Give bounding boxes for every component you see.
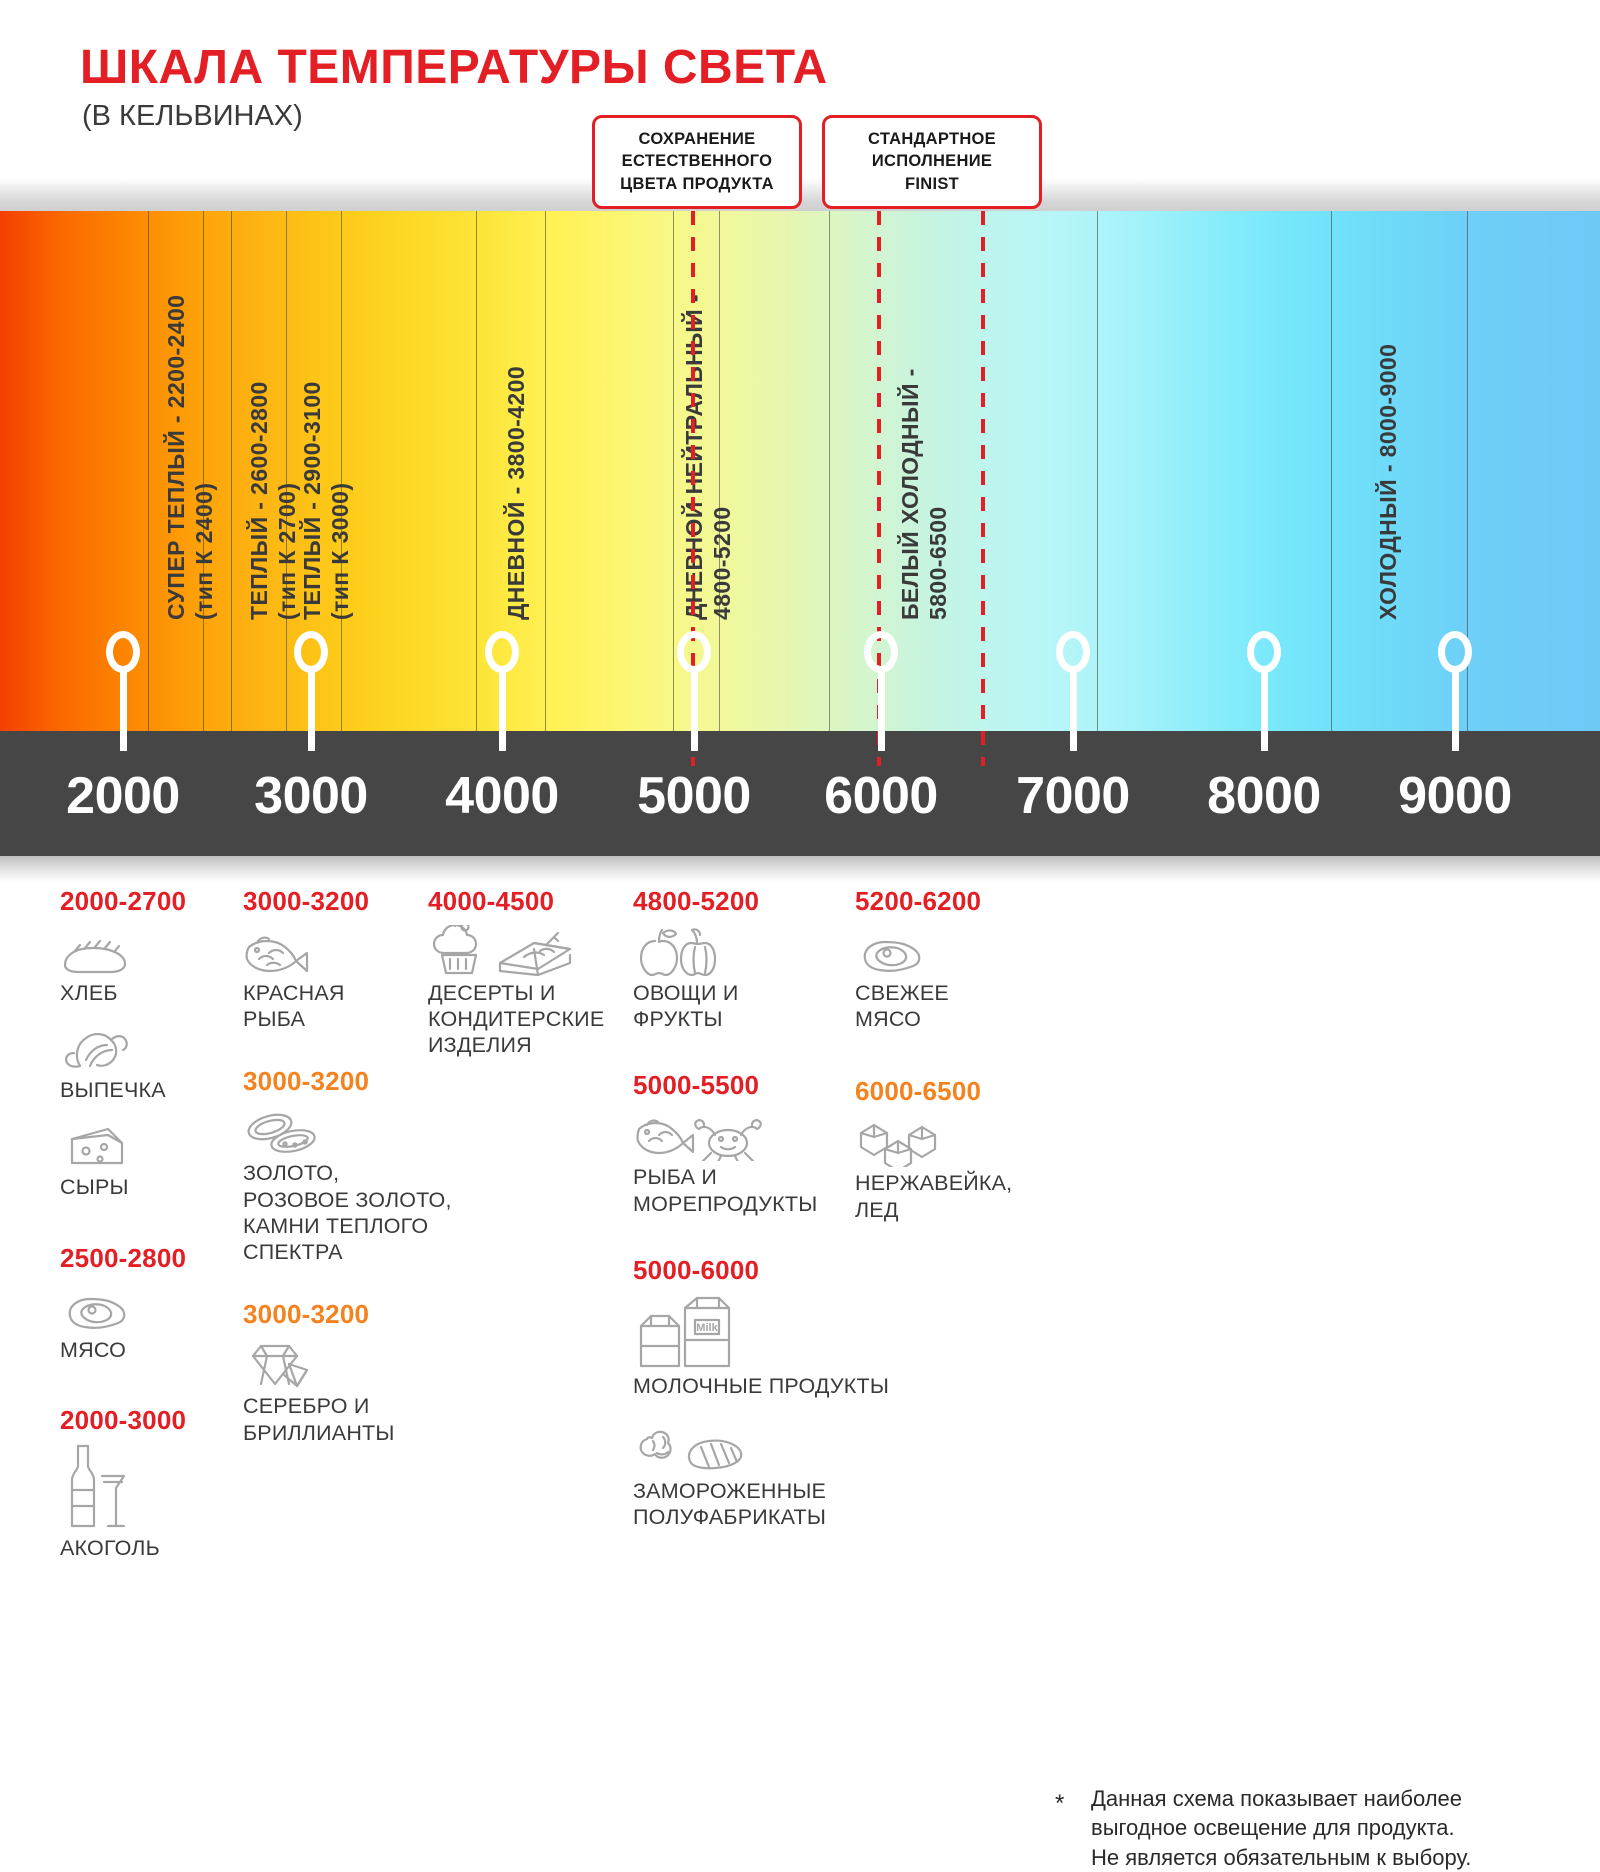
legend-item-frozen: ЗАМОРОЖЕННЫЕПОЛУФАБРИКАТЫ — [633, 1421, 848, 1530]
croissant-icon — [60, 1020, 240, 1074]
footnote-line-2: выгодное освещение для продукта. — [1091, 1813, 1550, 1842]
band-divider — [1097, 211, 1098, 731]
band-divider — [719, 211, 720, 731]
legend-item-desserts: ДЕСЕРТЫ И КОНДИТЕРСКИЕ ИЗДЕЛИЯ — [428, 923, 628, 1059]
tick-label-2000: 2000 — [28, 766, 218, 826]
legend-item-label: ХЛЕБ — [60, 980, 240, 1006]
legend-range: 5000-5500 — [633, 1070, 848, 1101]
legend-item-label: СЕРЕБРО ИБРИЛЛИАНТЫ — [243, 1393, 433, 1445]
callout-line-2: ИСПОЛНЕНИЕ — [837, 150, 1027, 172]
legend-range: 2500-2800 — [60, 1243, 240, 1274]
rings-icon — [243, 1103, 433, 1157]
footnote-line-1: Данная схема показывает наиболее — [1091, 1784, 1550, 1813]
band-label-warm-3000: ТЕПЛЫЙ - 2900-3100 — [299, 381, 326, 620]
band-divider — [545, 211, 546, 731]
tick-label-8000: 8000 — [1169, 766, 1359, 826]
legend-range: 3000-3200 — [243, 1299, 433, 1330]
band-label-super-warm: СУПЕР ТЕПЛЫЙ - 2200-2400 — [163, 295, 190, 620]
steak-icon — [60, 1280, 240, 1334]
legend-group-2500-2800: 2500-2800 МЯСО — [60, 1243, 240, 1363]
legend-item-label: НЕРЖАВЕЙКА,ЛЕД — [855, 1170, 1050, 1222]
legend-item-label: ЗАМОРОЖЕННЫЕПОЛУФАБРИКАТЫ — [633, 1478, 883, 1530]
legend-group-fresh-meat: 5200-6200 СВЕЖЕЕМЯСО — [855, 886, 1050, 1032]
band-label-warm-2700: ТЕПЛЫЙ - 2600-2800 — [246, 381, 273, 620]
band-divider — [148, 211, 149, 731]
footnote-line-3: Не является обязательным к выбору. — [1091, 1843, 1550, 1872]
page-title: ШКАЛА ТЕМПЕРАТУРЫ СВЕТА — [80, 40, 828, 95]
legend-item-red-fish: КРАСНАЯРЫБА — [243, 923, 433, 1032]
legend-item-label: ОВОЩИ ИФРУКТЫ — [633, 980, 848, 1032]
legend-item-label: ВЫПЕЧКА — [60, 1077, 240, 1103]
legend-range: 4000-4500 — [428, 886, 628, 917]
legend-item-label: МОЛОЧНЫЕ ПРОДУКТЫ — [633, 1373, 953, 1399]
diamond-icon — [243, 1336, 433, 1390]
bread-icon — [60, 923, 240, 977]
tick-label-7000: 7000 — [978, 766, 1168, 826]
page-subtitle: (В КЕЛЬВИНАХ) — [82, 100, 303, 133]
band-sublabel-white-cold: 5800-6500 — [925, 506, 952, 620]
footnote: * Данная схема показывает наиболее выгод… — [1055, 1784, 1550, 1872]
fish-icon — [243, 923, 433, 977]
legend-column-4: 4800-5200 ОВОЩИ ИФРУКТЫ 5000-5500 — [633, 886, 848, 1545]
band-label-daylight: ДНЕВНОЙ - 3800-4200 — [503, 366, 530, 620]
legend-item-steel-ice: НЕРЖАВЕЙКА,ЛЕД — [855, 1113, 1050, 1222]
svg-text:Milk: Milk — [696, 1322, 718, 1334]
legend-range: 2000-2700 — [60, 886, 240, 917]
fish-crab-icon — [633, 1107, 848, 1161]
band-divider — [673, 211, 674, 731]
color-temperature-gradient — [0, 211, 1600, 731]
callout-line-2: ЕСТЕСТВЕННОГО — [607, 150, 787, 172]
legend-range: 5000-6000 — [633, 1255, 848, 1286]
cupcake-cake-icon — [428, 923, 628, 977]
legend-item-label: РЫБА ИМОРЕПРОДУКТЫ — [633, 1164, 848, 1216]
legend-item-label: КРАСНАЯРЫБА — [243, 980, 433, 1032]
legend-item-label: СЫРЫ — [60, 1174, 240, 1200]
legend-column-3: 4000-4500 ДЕСЕРТЫ И КОНДИТЕРСКИЕ ИЗДЕ — [428, 886, 628, 1073]
footnote-text: Данная схема показывает наиболее выгодно… — [1091, 1784, 1550, 1872]
band-divider — [476, 211, 477, 731]
band-divider — [286, 211, 287, 731]
band-divider — [1331, 211, 1332, 731]
tick-label-9000: 9000 — [1360, 766, 1550, 826]
tick-label-4000: 4000 — [407, 766, 597, 826]
legend-range: 3000-3200 — [243, 1066, 433, 1097]
legend-item-gold: ЗОЛОТО, РОЗОВОЕ ЗОЛОТО, КАМНИ ТЕПЛОГО СП… — [243, 1103, 433, 1265]
frozen-food-icon — [633, 1421, 848, 1475]
guide-line-6500k — [981, 211, 985, 766]
apple-pepper-icon — [633, 923, 848, 977]
legend-item-bread: ХЛЕБ — [60, 923, 240, 1006]
legend-range: 5200-6200 — [855, 886, 1050, 917]
legend-item-cheese: СЫРЫ — [60, 1117, 240, 1200]
legend-item-alcohol: АКОГОЛЬ — [60, 1442, 240, 1561]
legend-range: 3000-3200 — [243, 886, 433, 917]
callout-line-3: ЦВЕТА ПРОДУКТА — [607, 173, 787, 195]
legend-item-seafood: РЫБА ИМОРЕПРОДУКТЫ — [633, 1107, 848, 1216]
legend-column-5: 5200-6200 СВЕЖЕЕМЯСО 6000-6500 — [855, 886, 1050, 1237]
legend-group-silver: 3000-3200 СЕРЕБРО ИБРИЛЛИАНТЫ — [243, 1299, 433, 1445]
axis-bottom-shadow — [0, 856, 1600, 882]
legend-item-label: СВЕЖЕЕМЯСО — [855, 980, 1050, 1032]
band-label-white-cold: БЕЛЫЙ ХОЛОДНЫЙ - — [897, 368, 924, 620]
callout-line-1: СОХРАНЕНИЕ — [607, 128, 787, 150]
cheese-icon — [60, 1117, 240, 1171]
legend-item-meat: МЯСО — [60, 1280, 240, 1363]
milk-carton-icon: Milk — [633, 1292, 848, 1370]
tick-label-3000: 3000 — [216, 766, 406, 826]
band-sublabel-super-warm: (тип К 2400) — [191, 483, 218, 620]
legend-column-1: 2000-2700 ХЛЕБ ВЫПЕЧКА — [60, 886, 240, 1575]
legend-group-steel-ice: 6000-6500 НЕРЖАВЕЙКА,ЛЕД — [855, 1076, 1050, 1222]
legend-item-vegetables: ОВОЩИ ИФРУКТЫ — [633, 923, 848, 1032]
legend-item-label: ЗОЛОТО, РОЗОВОЕ ЗОЛОТО, КАМНИ ТЕПЛОГО СП… — [243, 1160, 493, 1265]
callout-line-3: FINIST — [837, 173, 1027, 195]
tick-label-6000: 6000 — [786, 766, 976, 826]
legend-group-vegetables: 4800-5200 ОВОЩИ ИФРУКТЫ — [633, 886, 848, 1032]
callout-finist-standard: СТАНДАРТНОЕ ИСПОЛНЕНИЕ FINIST — [822, 115, 1042, 209]
band-sublabel-warm-3000: (тип К 3000) — [327, 483, 354, 620]
legend-item-label: АКОГОЛЬ — [60, 1535, 240, 1561]
band-divider — [341, 211, 342, 731]
legend-item-dairy: Milk МОЛОЧНЫЕ ПРОДУКТЫ — [633, 1292, 848, 1399]
legend-column-2: 3000-3200 КРАСНАЯРЫБА 3000-3200 — [243, 886, 433, 1460]
callout-line-1: СТАНДАРТНОЕ — [837, 128, 1027, 150]
legend-group-2000-3000: 2000-3000 АКОГОЛЬ — [60, 1405, 240, 1561]
band-divider — [829, 211, 830, 731]
band-divider — [231, 211, 232, 731]
band-divider — [203, 211, 204, 731]
callout-natural-color: СОХРАНЕНИЕ ЕСТЕСТВЕННОГО ЦВЕТА ПРОДУКТА — [592, 115, 802, 209]
legend-item-silver: СЕРЕБРО ИБРИЛЛИАНТЫ — [243, 1336, 433, 1445]
legend-group-seafood: 5000-5500 РЫБА ИМОРЕПРОДУКТЫ — [633, 1070, 848, 1216]
legend-item-label: МЯСО — [60, 1337, 240, 1363]
legend-item-pastry: ВЫПЕЧКА — [60, 1020, 240, 1103]
legend-group-gold: 3000-3200 ЗОЛОТО, РОЗОВОЕ ЗОЛОТО, КАМНИ … — [243, 1066, 433, 1265]
legend-range: 2000-3000 — [60, 1405, 240, 1436]
band-sublabel-warm-2700: (тип К 2700) — [274, 483, 301, 620]
legend-range: 6000-6500 — [855, 1076, 1050, 1107]
legend-item-label: ДЕСЕРТЫ И КОНДИТЕРСКИЕ ИЗДЕЛИЯ — [428, 980, 628, 1059]
product-legend: 2000-2700 ХЛЕБ ВЫПЕЧКА — [0, 886, 1600, 1600]
band-sublabel-daylight-neutral: 4800-5200 — [709, 506, 736, 620]
legend-group-2000-2700: 2000-2700 ХЛЕБ ВЫПЕЧКА — [60, 886, 240, 1201]
steak-icon — [855, 923, 1050, 977]
band-label-cold: ХОЛОДНЫЙ - 8000-9000 — [1375, 344, 1402, 620]
footnote-asterisk: * — [1055, 1790, 1064, 1818]
legend-group-dairy-frozen: 5000-6000 Milk МОЛОЧНЫЕ ПРОДУКТЫ — [633, 1255, 848, 1531]
ice-cubes-icon — [855, 1113, 1050, 1167]
tick-label-5000: 5000 — [599, 766, 789, 826]
legend-range: 4800-5200 — [633, 886, 848, 917]
legend-group-desserts: 4000-4500 ДЕСЕРТЫ И КОНДИТЕРСКИЕ ИЗДЕ — [428, 886, 628, 1059]
legend-item-fresh-meat: СВЕЖЕЕМЯСО — [855, 923, 1050, 1032]
bottle-glass-icon — [60, 1442, 240, 1532]
legend-group-red-fish: 3000-3200 КРАСНАЯРЫБА — [243, 886, 433, 1032]
